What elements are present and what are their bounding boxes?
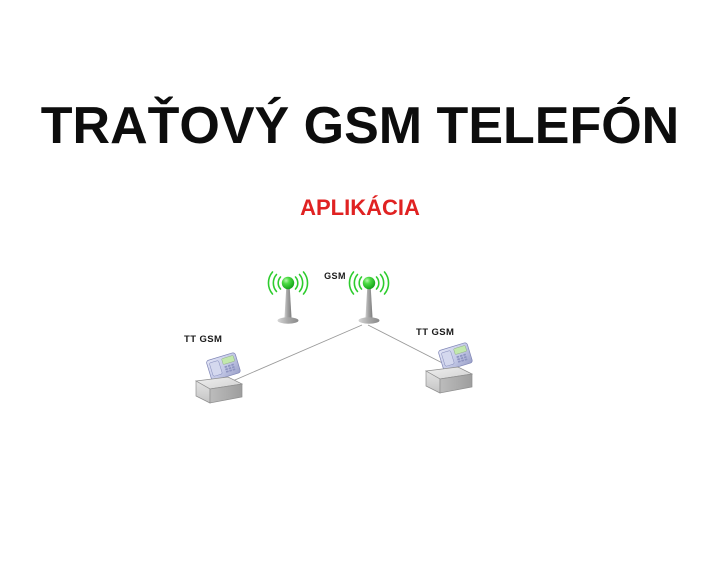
slide-subtitle: APLIKÁCIA [0,195,720,221]
antenna-foot-right [359,317,380,323]
slide-canvas: TRAŤOVÝ GSM TELEFÓN APLIKÁCIA [0,0,720,575]
terminal-base-left [196,377,242,403]
terminal-right [426,342,473,393]
handset-right [438,342,473,371]
antenna-foot-left [278,317,299,323]
antenna-pole-right [365,285,372,319]
terminal-base-right [426,367,472,393]
terminal-left-label: TT GSM [184,334,222,345]
antenna-pole-left [284,285,291,319]
slide-title: TRAŤOVÝ GSM TELEFÓN [0,97,720,155]
link-line-left [228,325,362,383]
gsm-network-label: GSM [170,271,500,281]
terminal-left [196,352,242,403]
handset-left [206,352,241,381]
gsm-network-diagram: GSM TT GSM TT GSM [170,255,500,420]
terminal-right-label: TT GSM [416,327,454,338]
